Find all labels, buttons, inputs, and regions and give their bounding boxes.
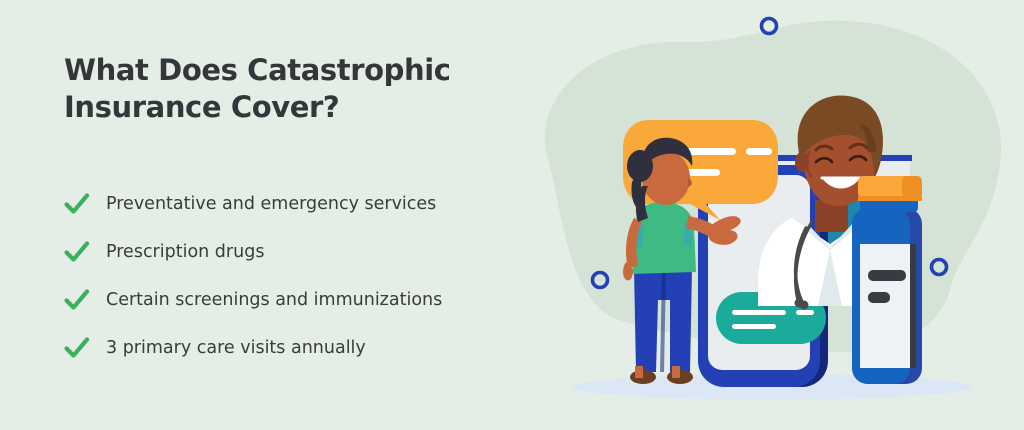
pill-bottle-label-line-2 [868, 292, 890, 303]
pill-bottle-cap-shadow [902, 176, 922, 198]
benefits-list: Preventative and emergency services Pres… [64, 180, 534, 372]
chat-bubble-teal-line-3 [732, 324, 776, 329]
list-item: Prescription drugs [64, 228, 534, 276]
page-title-line-1: What Does Catastrophic [64, 52, 534, 89]
list-item-label: 3 primary care visits annually [106, 338, 366, 358]
check-icon [64, 241, 106, 263]
pill-bottle-label [860, 244, 916, 368]
woman-hair-bun [627, 150, 653, 182]
check-icon [64, 193, 106, 215]
check-icon [64, 337, 106, 359]
telehealth-consultation-illustration [530, 0, 1024, 430]
page-title-line-2: Insurance Cover? [64, 89, 534, 126]
list-item: Certain screenings and immunizations [64, 276, 534, 324]
chat-bubble-teal-line-1 [732, 310, 786, 315]
list-item-label: Prescription drugs [106, 242, 264, 262]
list-item-label: Certain screenings and immunizations [106, 290, 442, 310]
chat-bubble-teal-line-2 [796, 310, 814, 315]
list-item: Preventative and emergency services [64, 180, 534, 228]
pill-bottle [852, 176, 922, 384]
text-column: What Does Catastrophic Insurance Cover? … [64, 52, 534, 126]
list-item: 3 primary care visits annually [64, 324, 534, 372]
pill-bottle-label-line-1 [868, 270, 906, 281]
pill-bottle-label-edge [910, 244, 916, 368]
check-icon [64, 289, 106, 311]
infographic-canvas: What Does Catastrophic Insurance Cover? … [0, 0, 1024, 430]
list-item-label: Preventative and emergency services [106, 194, 436, 214]
pill-bottle-cap-ring [858, 196, 922, 201]
page-title: What Does Catastrophic Insurance Cover? [64, 52, 534, 126]
speech-bubble-line-2 [746, 148, 772, 155]
